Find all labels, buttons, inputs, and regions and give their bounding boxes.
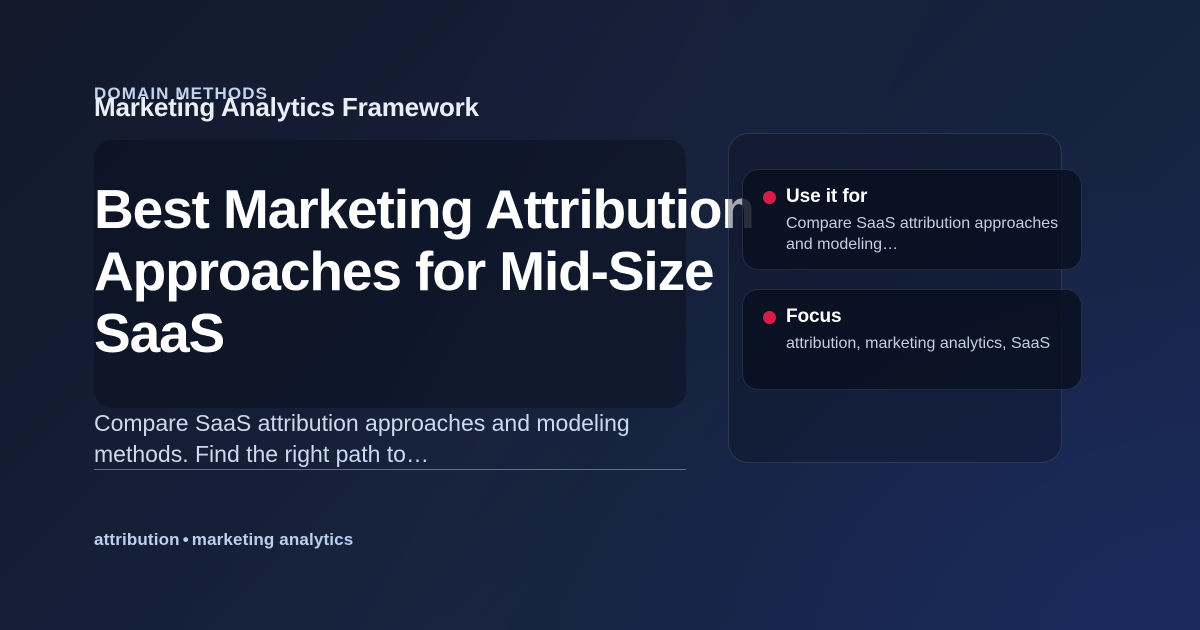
tag-item-attribution: attribution xyxy=(94,530,180,549)
subtitle-divider xyxy=(94,469,686,470)
kicker-title: Marketing Analytics Framework xyxy=(94,94,514,121)
info-card-title: Focus xyxy=(786,306,841,328)
info-card-use-it-for: Use it for Compare SaaS attribution appr… xyxy=(742,169,1082,270)
tag-list: attribution•marketing analytics xyxy=(94,530,353,550)
info-card-header: Use it for xyxy=(763,186,1061,208)
tag-separator: • xyxy=(180,530,192,549)
subtitle-text: Compare SaaS attribution approaches and … xyxy=(94,408,694,469)
bullet-dot-icon xyxy=(763,311,776,324)
info-card-body: Compare SaaS attribution approaches and … xyxy=(786,213,1061,256)
info-card-body: attribution, marketing analytics, SaaS xyxy=(786,333,1061,354)
page-title: Best Marketing Attribution Approaches fo… xyxy=(94,178,794,364)
info-card-focus: Focus attribution, marketing analytics, … xyxy=(742,289,1082,390)
info-card-title: Use it for xyxy=(786,186,867,208)
og-card-canvas: DOMAIN METHODS Marketing Analytics Frame… xyxy=(0,0,1200,630)
info-card-header: Focus xyxy=(763,306,1061,328)
tag-item-marketing-analytics: marketing analytics xyxy=(192,530,354,549)
bullet-dot-icon xyxy=(763,191,776,204)
